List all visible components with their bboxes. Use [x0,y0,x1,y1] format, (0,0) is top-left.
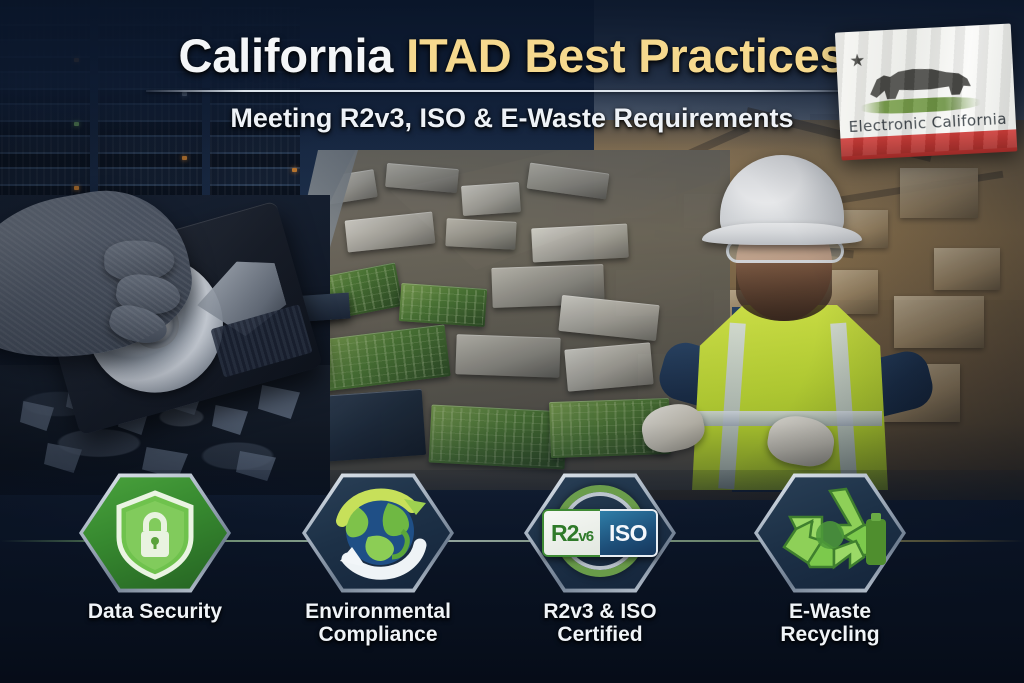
badge-label-line2: Certified [524,624,676,647]
r2-plate-subtext: v6 [578,528,593,545]
badge-r2v3-iso-certified[interactable]: R2v6 ISO R2v3 & ISO Certified [524,471,676,646]
shield-lock-icon [79,471,231,595]
badge-label-r2v3-iso: R2v3 & ISO Certified [524,601,676,646]
badge-label-environmental-compliance: Environmental Compliance [302,601,454,646]
badge-label-data-security: Data Security [79,601,231,624]
badge-ewaste-recycling[interactable]: E-Waste Recycling [754,471,906,646]
title-divider [146,90,846,92]
r2-iso-certification-icon: R2v6 ISO [542,509,658,557]
badge-label-line1: Environmental [302,601,454,624]
r2-plate-left: R2v6 [542,509,600,557]
iso-plate-right: ISO [600,509,658,557]
globe-recycle-arrows-icon [302,471,454,595]
badge-label-line1: R2v3 & ISO [524,601,676,624]
iso-plate-text: ISO [609,520,647,547]
california-flag: Electronic California [835,23,1017,156]
title-primary: California [178,29,393,82]
r2-plate-text: R2 [551,520,578,546]
poster-canvas: California ITAD Best Practices Meeting R… [0,0,1024,683]
badge-label-ewaste-recycling: E-Waste Recycling [754,601,906,646]
title-accent: ITAD Best Practices [406,29,845,82]
badge-data-security[interactable]: Data Security [79,471,231,624]
recycling-symbol-icon [754,471,906,595]
badge-label-line2: Compliance [302,624,454,647]
badge-environmental-compliance[interactable]: Environmental Compliance [302,471,454,646]
